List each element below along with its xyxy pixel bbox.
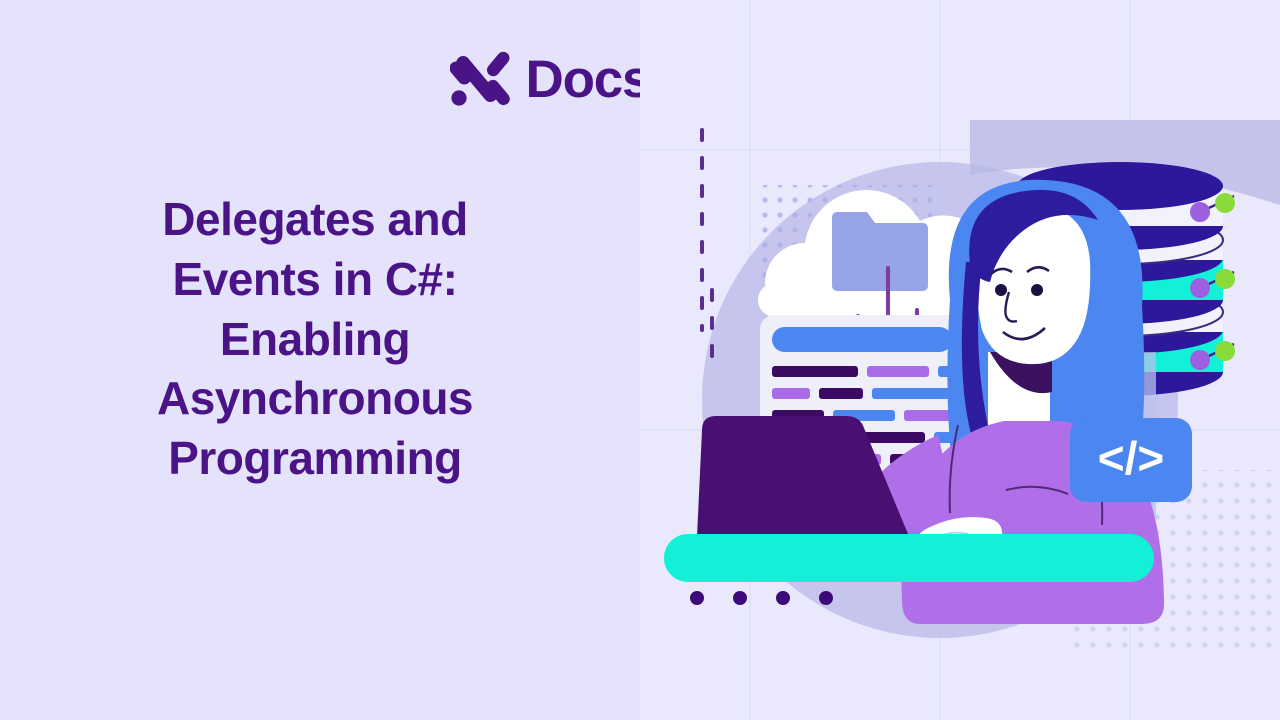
code-line-bar [772,366,858,377]
code-line-bar [867,366,929,377]
hero-illustration: </> [640,0,1280,720]
page-title: Delegates and Events in C#: Enabling Asy… [0,190,630,489]
title-line-1: Delegates and [40,190,590,250]
code-line-bar [819,388,863,399]
docsallover-slash-mark-icon [450,48,512,110]
title-line-5: Programming [40,429,590,489]
code-line-bar [772,388,810,399]
folder-icon [832,212,928,291]
title-line-4: Asynchronous [40,369,590,429]
blog-banner: DocsAllOver Delegates and Events in C#: … [0,0,1280,720]
code-badge-label: </> [1098,432,1165,484]
eye-right [1031,284,1043,296]
code-card-header-bar [772,327,952,352]
desk-bar [664,534,1154,582]
title-line-3: Enabling [40,310,590,370]
code-badge: </> [1070,418,1192,502]
title-line-2: Events in C#: [40,250,590,310]
eye-left [995,284,1007,296]
developer-illustration-svg: </> [640,0,1280,720]
